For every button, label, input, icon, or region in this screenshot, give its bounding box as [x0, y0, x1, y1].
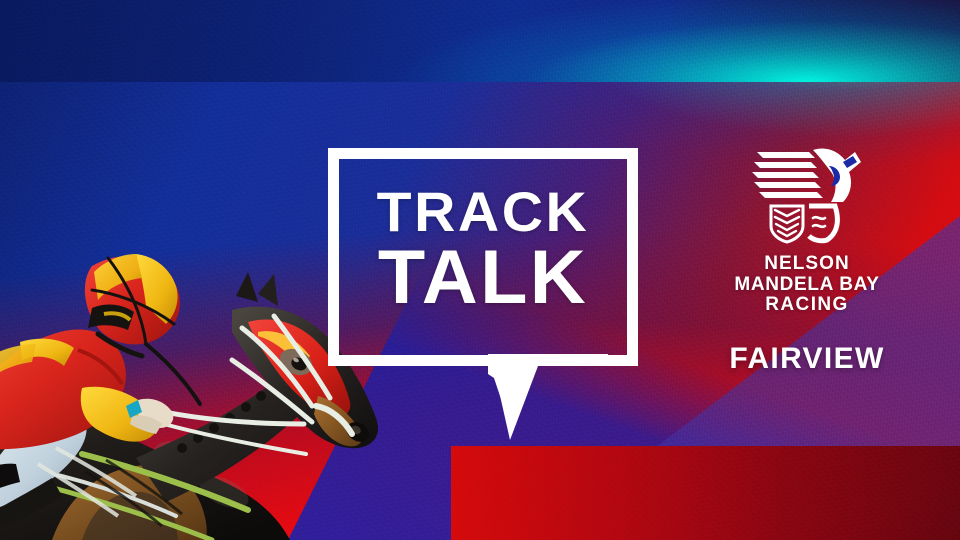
speech-bubble: TRACK TALK	[328, 148, 638, 366]
bubble-line-talk: TALK	[325, 240, 641, 316]
horse-head-shield-emblem	[751, 140, 863, 244]
nmb-racing-lockup: NELSON MANDELA BAY RACING FAIRVIEW	[707, 140, 907, 376]
lockup-line-nelson: NELSON	[707, 254, 907, 275]
venue-name-fairview: FAIRVIEW	[707, 342, 907, 376]
lockup-line-racing: RACING	[707, 295, 907, 316]
track-talk-banner: TRACK TALK	[0, 0, 960, 540]
speech-bubble-tail	[488, 354, 608, 444]
lockup-line-mandela-bay: MANDELA BAY	[707, 275, 907, 296]
bubble-line-track: TRACK	[325, 184, 641, 240]
